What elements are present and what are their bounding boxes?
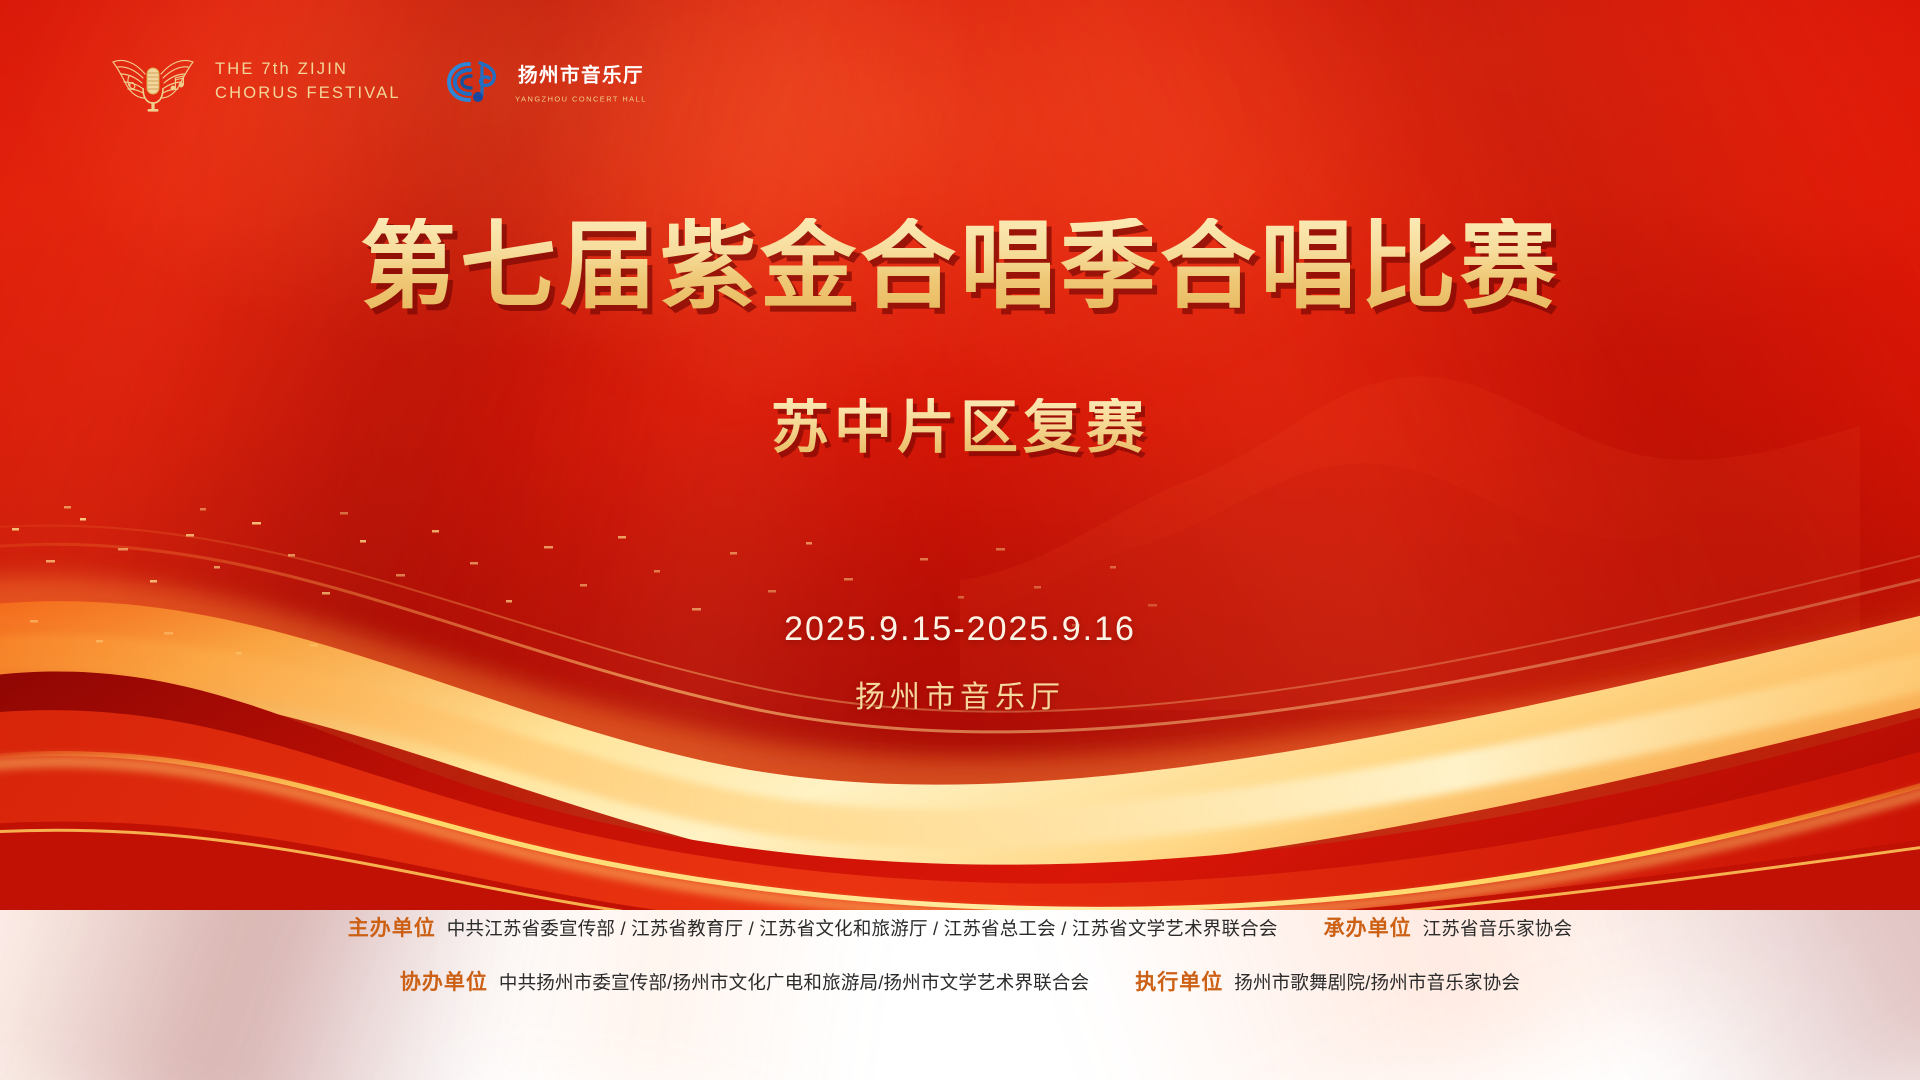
event-venue: 扬州市音乐厅 (0, 672, 1920, 716)
credits-row: 协办单位 中共扬州市委宣传部/扬州市文化广电和旅游局/扬州市文学艺术界联合会 执… (0, 966, 1920, 996)
yangzhou-en-wordmark: YANGZHOU CONCERT HALL (511, 92, 651, 105)
winged-microphone-icon (105, 52, 201, 112)
yangzhou-concert-hall-logo: 扬州市音乐厅 YANGZHOU CONCERT HALL (447, 59, 651, 105)
page-title: 第七届紫金合唱季合唱比赛 (0, 218, 1920, 314)
credit-value: 江苏省音乐家协会 (1423, 915, 1573, 941)
credit-value: 中共扬州市委宣传部/扬州市文化广电和旅游局/扬州市文学艺术界联合会 (499, 969, 1089, 995)
zijin-logo-line2: CHORUS FESTIVAL (215, 82, 401, 106)
credit-label: 承办单位 (1324, 912, 1412, 942)
credit-item-host: 主办单位 中共江苏省委宣传部 / 江苏省教育厅 / 江苏省文化和旅游厅 / 江苏… (348, 912, 1278, 942)
yangzhou-en-text: YANGZHOU CONCERT HALL (515, 94, 647, 103)
credits-row: 主办单位 中共江苏省委宣传部 / 江苏省教育厅 / 江苏省文化和旅游厅 / 江苏… (0, 912, 1920, 942)
yangzhou-cn-text: 扬州市音乐厅 (518, 63, 644, 86)
logo-bar: THE 7th ZIJIN CHORUS FESTIVAL 扬州市音乐厅 (105, 52, 651, 112)
credit-label: 协办单位 (400, 966, 488, 996)
credit-item-organizer: 承办单位 江苏省音乐家协会 (1324, 912, 1573, 942)
credit-item-executor: 执行单位 扬州市歌舞剧院/扬州市音乐家协会 (1135, 966, 1520, 996)
music-note-swirl-icon (447, 59, 501, 105)
yangzhou-logo-text: 扬州市音乐厅 YANGZHOU CONCERT HALL (511, 60, 651, 105)
zijin-logo-text: THE 7th ZIJIN CHORUS FESTIVAL (215, 58, 401, 106)
event-date: 2025.9.15-2025.9.16 (0, 610, 1920, 649)
credit-value: 扬州市歌舞剧院/扬州市音乐家协会 (1234, 969, 1520, 995)
credit-value: 中共江苏省委宣传部 / 江苏省教育厅 / 江苏省文化和旅游厅 / 江苏省总工会 … (447, 915, 1278, 941)
yangzhou-cn-wordmark: 扬州市音乐厅 (511, 60, 651, 92)
credit-label: 主办单位 (348, 912, 436, 942)
credit-label: 执行单位 (1135, 966, 1223, 996)
credits-block: 主办单位 中共江苏省委宣传部 / 江苏省教育厅 / 江苏省文化和旅游厅 / 江苏… (0, 912, 1920, 1020)
zijin-festival-logo: THE 7th ZIJIN CHORUS FESTIVAL (105, 52, 401, 112)
credit-item-co-organizer: 协办单位 中共扬州市委宣传部/扬州市文化广电和旅游局/扬州市文学艺术界联合会 (400, 966, 1089, 996)
page-subtitle: 苏中片区复赛 (0, 398, 1920, 456)
zijin-logo-line1: THE 7th ZIJIN (215, 58, 401, 82)
poster-canvas: THE 7th ZIJIN CHORUS FESTIVAL 扬州市音乐厅 (0, 0, 1920, 1080)
